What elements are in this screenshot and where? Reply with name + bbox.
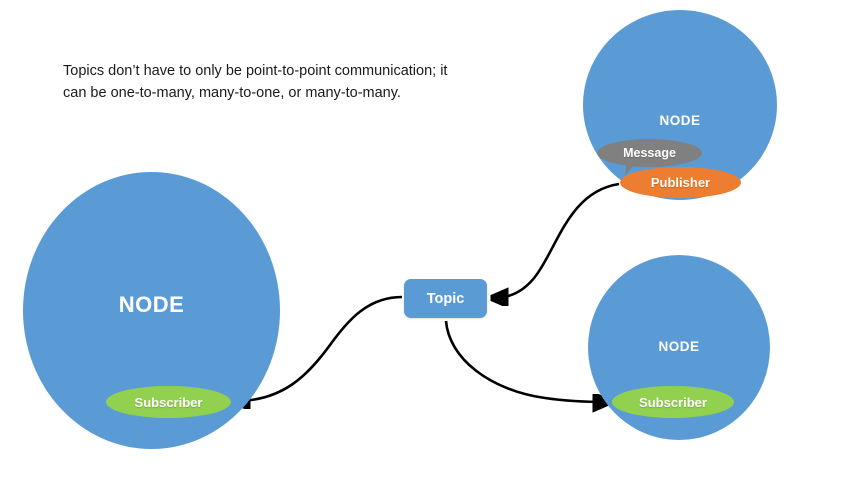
node-top-right-label: NODE — [583, 113, 777, 128]
arrow-publisher-to-topic — [494, 184, 619, 298]
diagram-canvas: Topics don’t have to only be point-to-po… — [0, 0, 854, 480]
node-left-label: NODE — [23, 292, 280, 318]
publisher-endpoint[interactable]: Publisher — [620, 167, 741, 198]
subscriber-left[interactable]: Subscriber — [106, 386, 231, 418]
topic-box[interactable]: Topic — [404, 279, 487, 318]
arrow-topic-to-right-subscriber — [446, 321, 607, 402]
subscriber-right[interactable]: Subscriber — [612, 386, 734, 418]
message-bubble[interactable]: Message — [597, 139, 702, 167]
node-bottom-right-label: NODE — [588, 339, 770, 354]
